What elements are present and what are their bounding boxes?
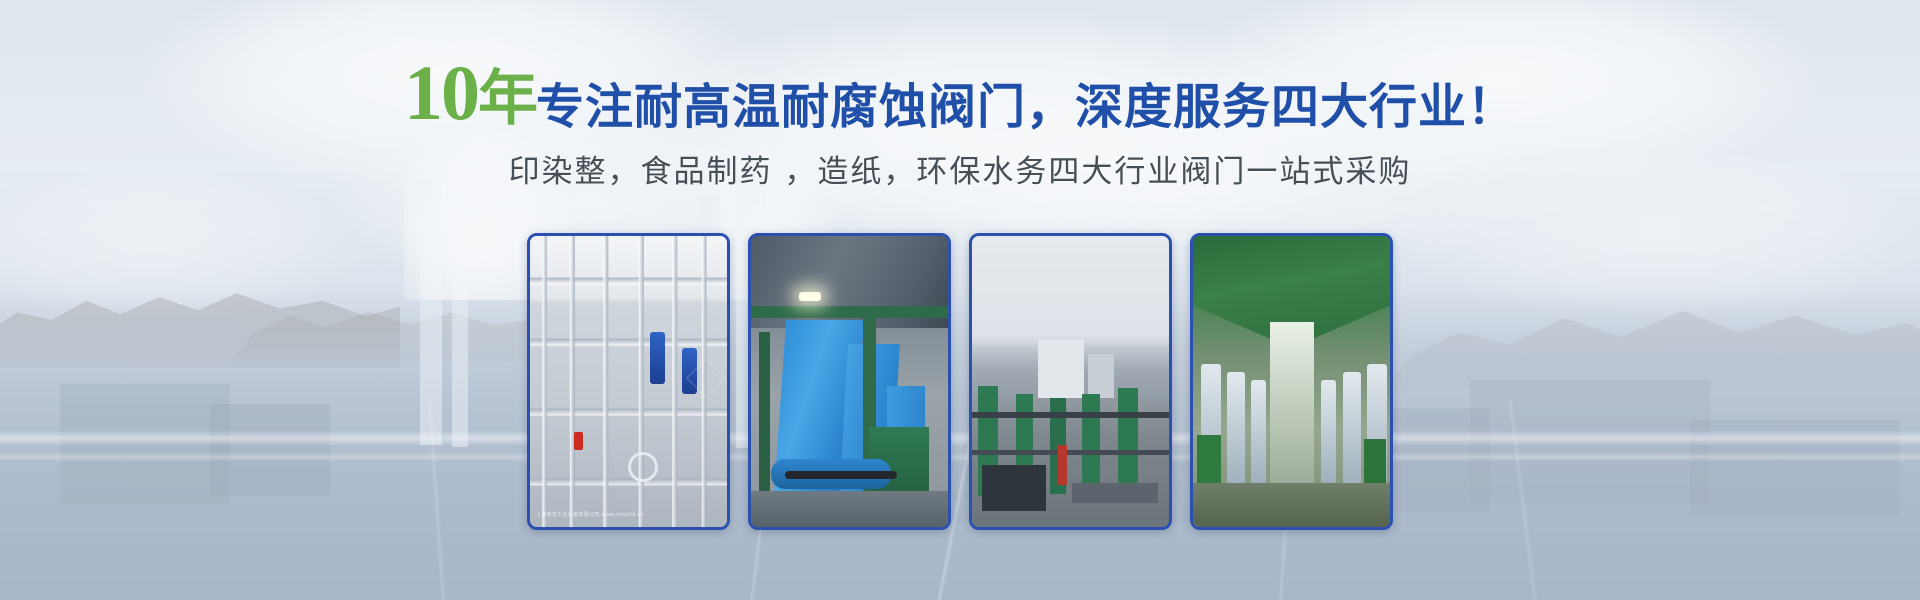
yard-building [1038, 340, 1084, 398]
photo-content [972, 236, 1169, 527]
photo-paper-mill-yard[interactable] [969, 233, 1172, 530]
photo-content: 上海索雷工业设备有限公司 www.shsolid.cn [530, 236, 727, 527]
handwheel-icon [628, 452, 658, 482]
headline-years: 10年 [404, 49, 536, 136]
dark-container [982, 465, 1046, 511]
hero-banner: 10年专注耐高温耐腐蚀阀门，深度服务四大行业！ 印染整，食品制药 ，造纸，环保水… [0, 0, 1920, 600]
corridor-walkway [1270, 322, 1314, 494]
red-handle [574, 432, 583, 450]
banner-subline: 印染整，食品制药 ，造纸，环保水务四大行业阀门一站式采购 [0, 146, 1920, 191]
overhead-rail [972, 450, 1169, 455]
ceiling-lamp [799, 292, 821, 301]
mill-floor [751, 491, 948, 527]
machine-column [1321, 380, 1336, 484]
photo-content [1193, 236, 1390, 527]
banner-text-block: 10年专注耐高温耐腐蚀阀门，深度服务四大行业！ 印染整，食品制药 ，造纸，环保水… [0, 54, 1920, 191]
photo-content [751, 236, 948, 527]
roller-shaft [785, 471, 897, 479]
yard-building [1088, 354, 1114, 398]
overhead-rail [972, 412, 1169, 418]
banner-headline: 10年专注耐高温耐腐蚀阀门，深度服务四大行业！ [404, 54, 1516, 132]
headline-years-number: 10 [404, 49, 478, 136]
headline-years-unit: 年 [478, 66, 536, 132]
industry-photo-strip: 上海索雷工业设备有限公司 www.shsolid.cn [527, 233, 1393, 530]
photo-textile-dyeing-mill[interactable] [748, 233, 951, 530]
photo-water-treatment-corridor[interactable] [1190, 233, 1393, 530]
photo-stainless-pipework-plant[interactable]: 上海索雷工业设备有限公司 www.shsolid.cn [527, 233, 730, 530]
green-machine [1082, 394, 1100, 494]
red-marker [1058, 445, 1067, 485]
headline-main-text: 专注耐高温耐腐蚀阀门，深度服务四大行业！ [536, 79, 1516, 135]
green-beam [751, 306, 948, 318]
steel-plate [1072, 483, 1158, 503]
machine-column [1343, 372, 1361, 486]
photo-watermark: 上海索雷工业设备有限公司 www.shsolid.cn [536, 512, 644, 520]
blue-valve [650, 332, 665, 384]
green-machine [1118, 388, 1138, 494]
machine-column [1251, 380, 1266, 484]
machine-column [1227, 372, 1245, 486]
corridor-floor [1193, 483, 1390, 527]
